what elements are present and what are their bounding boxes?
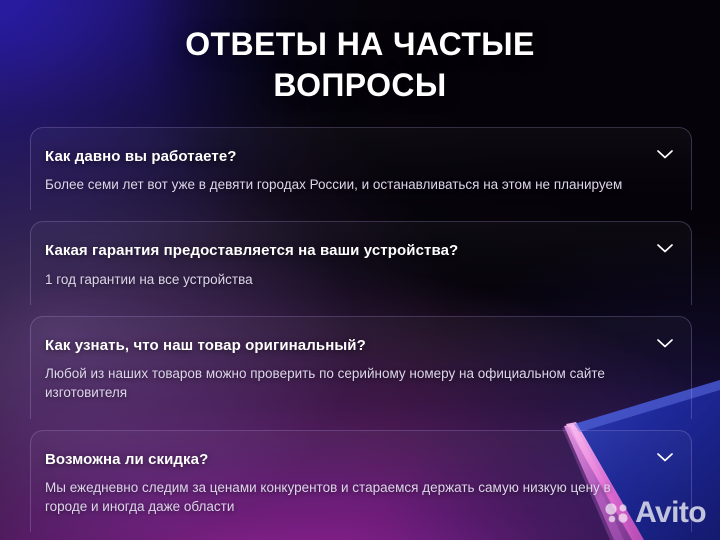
faq-item[interactable]: Как узнать, что наш товар оригинальный? … <box>30 316 692 419</box>
page-title-line-1: ОТВЕТЫ НА ЧАСТЫЕ <box>0 24 720 65</box>
faq-question: Какая гарантия предоставляется на ваши у… <box>45 242 639 260</box>
faq-item[interactable]: Какая гарантия предоставляется на ваши у… <box>30 221 692 304</box>
chevron-down-icon[interactable] <box>655 241 675 255</box>
faq-answer: 1 год гарантии на все устройства <box>45 270 639 289</box>
faq-question: Как давно вы работаете? <box>45 148 639 166</box>
chevron-down-icon[interactable] <box>655 450 675 464</box>
faq-item[interactable]: Возможна ли скидка? Мы ежедневно следим … <box>30 430 692 533</box>
page-title-line-2: ВОПРОСЫ <box>0 65 720 106</box>
avito-wordmark: Avito <box>635 498 706 528</box>
faq-answer: Любой из наших товаров можно проверить п… <box>45 364 639 402</box>
avito-watermark: Avito <box>604 498 706 528</box>
faq-accordion: Как давно вы работаете? Более семи лет в… <box>30 127 692 532</box>
page-title: ОТВЕТЫ НА ЧАСТЫЕ ВОПРОСЫ <box>0 24 720 106</box>
faq-screen: ОТВЕТЫ НА ЧАСТЫЕ ВОПРОСЫ Как давно вы ра… <box>0 0 720 540</box>
faq-answer: Более семи лет вот уже в девяти городах … <box>45 175 639 194</box>
chevron-down-icon[interactable] <box>655 147 675 161</box>
faq-question: Возможна ли скидка? <box>45 451 639 469</box>
avito-dots-icon <box>604 502 630 524</box>
chevron-down-icon[interactable] <box>655 336 675 350</box>
faq-item[interactable]: Как давно вы работаете? Более семи лет в… <box>30 127 692 210</box>
faq-answer: Мы ежедневно следим за ценами конкуренто… <box>45 478 639 516</box>
faq-question: Как узнать, что наш товар оригинальный? <box>45 337 639 355</box>
